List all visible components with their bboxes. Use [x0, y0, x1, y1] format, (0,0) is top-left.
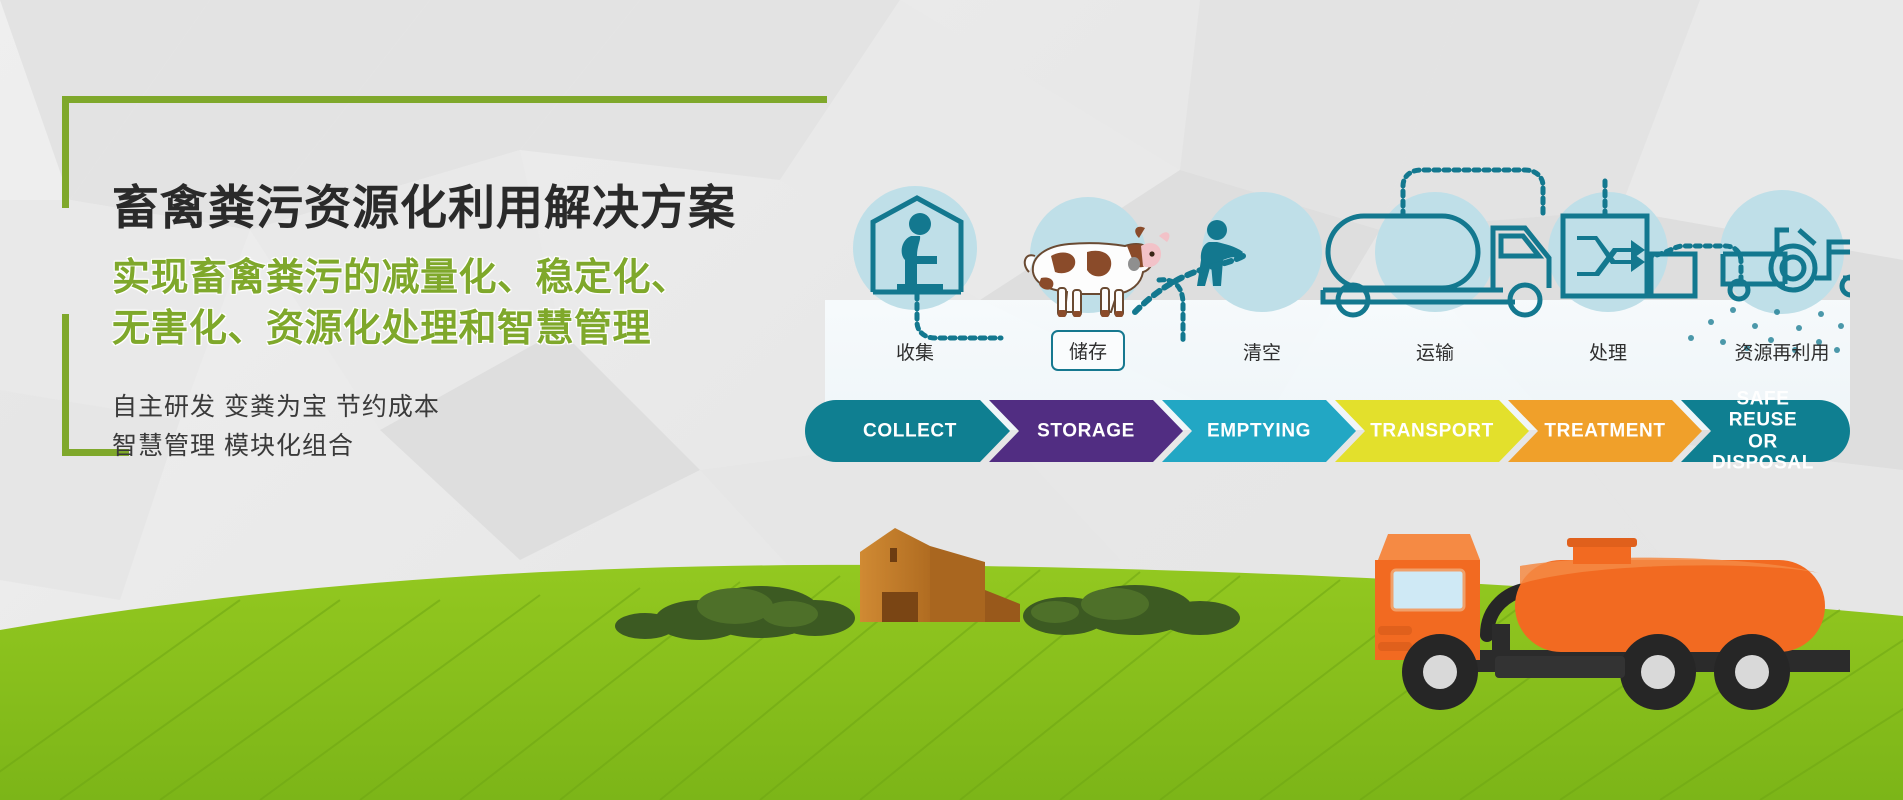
step-label-row: 收集 储存 清空 运输 处理 资源再利用	[825, 338, 1850, 378]
frame-left-upper	[62, 96, 69, 208]
feature-line-2: 智慧管理 模块化组合	[112, 427, 832, 466]
farm-scene	[0, 500, 1903, 800]
chevron-label-transport[interactable]: TRANSPORT	[1370, 420, 1494, 441]
chevron-shapes	[805, 400, 1850, 462]
chevron-label-collect[interactable]: COLLECT	[863, 420, 957, 441]
feature-list: 自主研发 变粪为宝 节约成本 智慧管理 模块化组合	[112, 388, 832, 466]
frame-top-line	[62, 96, 827, 103]
process-infographic: 收集 储存 清空 运输 处理 资源再利用	[825, 160, 1850, 420]
page-subtitle: 实现畜禽粪污的减量化、稳定化、 无害化、资源化处理和智慧管理	[112, 253, 832, 353]
step-label-storage[interactable]: 储存	[1051, 330, 1125, 371]
subtitle-line-2: 无害化、资源化处理和智慧管理	[112, 304, 832, 354]
chevron-label-storage[interactable]: STORAGE	[1037, 420, 1135, 441]
headline-block: 畜禽粪污资源化利用解决方案 实现畜禽粪污的减量化、稳定化、 无害化、资源化处理和…	[112, 180, 832, 465]
feature-line-1: 自主研发 变粪为宝 节约成本	[112, 388, 832, 427]
step-label-emptying: 清空	[1243, 338, 1281, 365]
step-label-reuse: 资源再利用	[1734, 338, 1829, 365]
process-chevron-band: COLLECT STORAGE EMPTYING TRANSPORT TREAT…	[805, 400, 1850, 462]
chevron-label-treatment[interactable]: TREATMENT	[1544, 420, 1665, 441]
banner-stage: 畜禽粪污资源化利用解决方案 实现畜禽粪污的减量化、稳定化、 无害化、资源化处理和…	[0, 0, 1903, 800]
chevron-label-emptying[interactable]: EMPTYING	[1207, 420, 1311, 441]
subtitle-line-1: 实现畜禽粪污的减量化、稳定化、	[112, 253, 832, 303]
step-label-treatment: 处理	[1589, 338, 1627, 365]
process-icons	[825, 160, 1850, 360]
step-label-collect: 收集	[896, 338, 934, 365]
chevron-label-reuse[interactable]: SAFE REUSE OR DISPOSAL	[1712, 388, 1814, 473]
step-label-transport: 运输	[1416, 338, 1454, 365]
page-title: 畜禽粪污资源化利用解决方案	[112, 180, 832, 235]
frame-left-lower	[62, 314, 69, 456]
